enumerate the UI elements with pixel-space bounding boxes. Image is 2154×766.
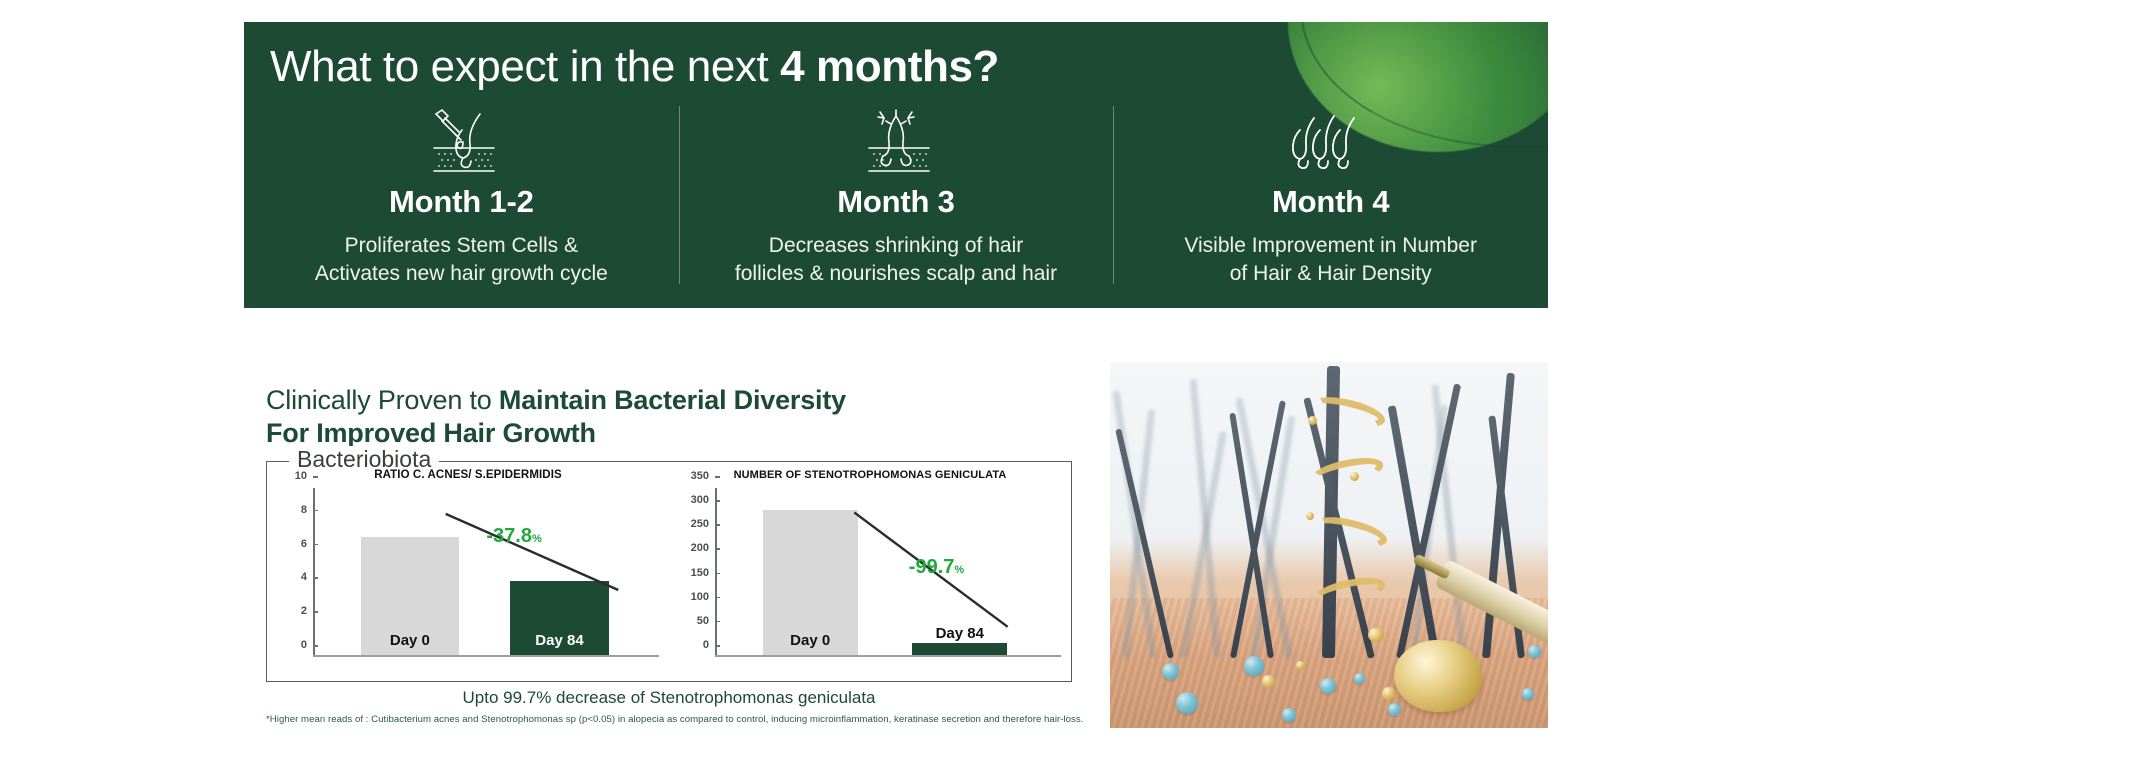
chart-1-ytick: 0: [301, 639, 313, 651]
month-column-2-desc: Decreases shrinking of hair follicles & …: [735, 232, 1057, 288]
chart-2-delta: -99.7%: [909, 556, 964, 579]
month-columns: Month 1-2 Proliferates Stem Cells & Acti…: [244, 106, 1548, 304]
chart-1-ytick: 8: [301, 504, 313, 516]
hydration-bubble: [1320, 678, 1336, 694]
serum-droplet: [1306, 512, 1314, 520]
hydration-bubble: [1162, 663, 1179, 680]
hydration-bubble: [1282, 708, 1296, 722]
chart-1-plot: 0 2 4 6 8 10 Day 0 Day 84: [313, 488, 653, 657]
month-column-2: Month 3 Decreases shrinking of hair foll…: [679, 106, 1114, 288]
chart-1-trend-arrow-icon: [442, 508, 626, 596]
hydration-bubble: [1388, 703, 1401, 716]
month-column-3-desc-line1: Visible Improvement in Number: [1184, 234, 1477, 257]
chart-1-ytick: 4: [301, 571, 313, 583]
hydration-bubble: [1528, 645, 1541, 658]
month-column-2-title: Month 3: [837, 184, 954, 220]
dropper-on-follicle-icon: [418, 106, 504, 180]
chart-ratio-acnes-epidermidis: RATIO C. ACNES/ S.EPIDERMIDIS 0 2 4 6 8 …: [267, 462, 669, 681]
charts-container: RATIO C. ACNES/ S.EPIDERMIDIS 0 2 4 6 8 …: [267, 462, 1071, 681]
month-column-3-desc: Visible Improvement in Number of Hair & …: [1184, 232, 1477, 288]
hydration-bubble: [1176, 692, 1198, 714]
chart-2-plot: 0 50 100 150 200 250 300 350 Day 0: [715, 488, 1055, 657]
chart-2-bar-day84: [912, 643, 1007, 655]
chart-2-ytick: 300: [691, 494, 715, 506]
chart-caption: Upto 99.7% decrease of Stenotrophomonas …: [266, 688, 1072, 708]
serum-droplet: [1308, 416, 1317, 425]
sparkling-follicle-icon: [853, 106, 939, 180]
panel-title-bold: 4 months?: [780, 42, 999, 91]
serum-drop-large: [1394, 640, 1482, 712]
chart-1-bar-day84-label: Day 84: [510, 632, 609, 649]
month-column-3-title: Month 4: [1272, 184, 1389, 220]
chart-1-ytick: 10: [295, 470, 313, 482]
hair-scalp-serum-photo: [1110, 362, 1548, 728]
chart-1-y-axis: [313, 488, 315, 657]
month-column-1-desc: Proliferates Stem Cells & Activates new …: [315, 232, 608, 288]
serum-droplet: [1262, 675, 1275, 688]
chart-1-delta: -37.8%: [486, 525, 541, 548]
chart-2-delta-value: -99.7: [909, 556, 955, 578]
chart-2-x-axis: [715, 655, 1061, 657]
chart-stenotrophomonas-count: NUMBER OF STENOTROPHOMONAS GENICULATA 0 …: [669, 462, 1071, 681]
chart-2-ytick: 350: [691, 470, 715, 482]
month-column-1: Month 1-2 Proliferates Stem Cells & Acti…: [244, 106, 679, 288]
serum-ribbon: [1310, 391, 1388, 432]
chart-1-title: RATIO C. ACNES/ S.EPIDERMIDIS: [267, 469, 669, 481]
chart-2-title: NUMBER OF STENOTROPHOMONAS GENICULATA: [669, 469, 1071, 481]
month-column-1-desc-line2: Activates new hair growth cycle: [315, 262, 608, 285]
month-column-1-title: Month 1-2: [389, 184, 534, 220]
serum-droplet: [1350, 472, 1359, 481]
chart-2-ytick: 50: [697, 615, 715, 627]
chart-1-delta-unit: %: [532, 533, 542, 545]
clinical-proof-panel: Clinically Proven to Maintain Bacterial …: [244, 362, 1548, 728]
expectations-panel: What to expect in the next 4 months?: [244, 22, 1548, 308]
hydration-bubble: [1522, 688, 1534, 700]
chart-2-bar-day0: Day 0: [763, 510, 858, 655]
chart-2-ytick: 0: [703, 639, 715, 651]
chart-1-bar-day0-label: Day 0: [361, 632, 460, 649]
month-column-2-desc-line1: Decreases shrinking of hair: [769, 234, 1023, 257]
hydration-bubble: [1244, 656, 1264, 676]
month-column-1-desc-line1: Proliferates Stem Cells &: [345, 234, 578, 257]
chart-2-ytick: 200: [691, 542, 715, 554]
chart-2-ytick: 100: [691, 591, 715, 603]
bacteriobiota-box: Bacteriobiota RATIO C. ACNES/ S.EPIDERMI…: [266, 461, 1072, 682]
chart-2-ytick: 250: [691, 518, 715, 530]
clinical-heading-bold-2: For Improved Hair Growth: [266, 418, 596, 448]
chart-1-x-axis: [313, 655, 659, 657]
chart-1-delta-value: -37.8: [486, 525, 532, 547]
panel-title: What to expect in the next 4 months?: [270, 42, 999, 92]
page-root: What to expect in the next 4 months?: [0, 0, 2154, 766]
serum-droplet: [1296, 661, 1305, 670]
month-column-3-desc-line2: of Hair & Hair Density: [1230, 262, 1432, 285]
month-column-2-desc-line2: follicles & nourishes scalp and hair: [735, 262, 1057, 285]
three-hair-strands-icon: [1288, 106, 1374, 180]
chart-2-bar-day0-label: Day 0: [763, 632, 858, 649]
clinical-proof-left: Clinically Proven to Maintain Bacterial …: [244, 362, 1110, 728]
panel-title-plain: What to expect in the next: [270, 42, 780, 91]
chart-2-delta-unit: %: [954, 564, 964, 576]
hydration-bubble: [1354, 673, 1365, 684]
clinical-heading-plain: Clinically Proven to: [266, 385, 499, 415]
chart-2-ytick: 150: [691, 567, 715, 579]
serum-droplet: [1368, 628, 1384, 642]
clinical-heading-bold-1: Maintain Bacterial Diversity: [499, 385, 846, 415]
month-column-3: Month 4 Visible Improvement in Number of…: [1113, 106, 1548, 288]
serum-droplet: [1382, 687, 1396, 700]
clinical-heading: Clinically Proven to Maintain Bacterial …: [266, 384, 846, 450]
chart-1-ytick: 6: [301, 538, 313, 550]
chart-1-ytick: 2: [301, 605, 313, 617]
